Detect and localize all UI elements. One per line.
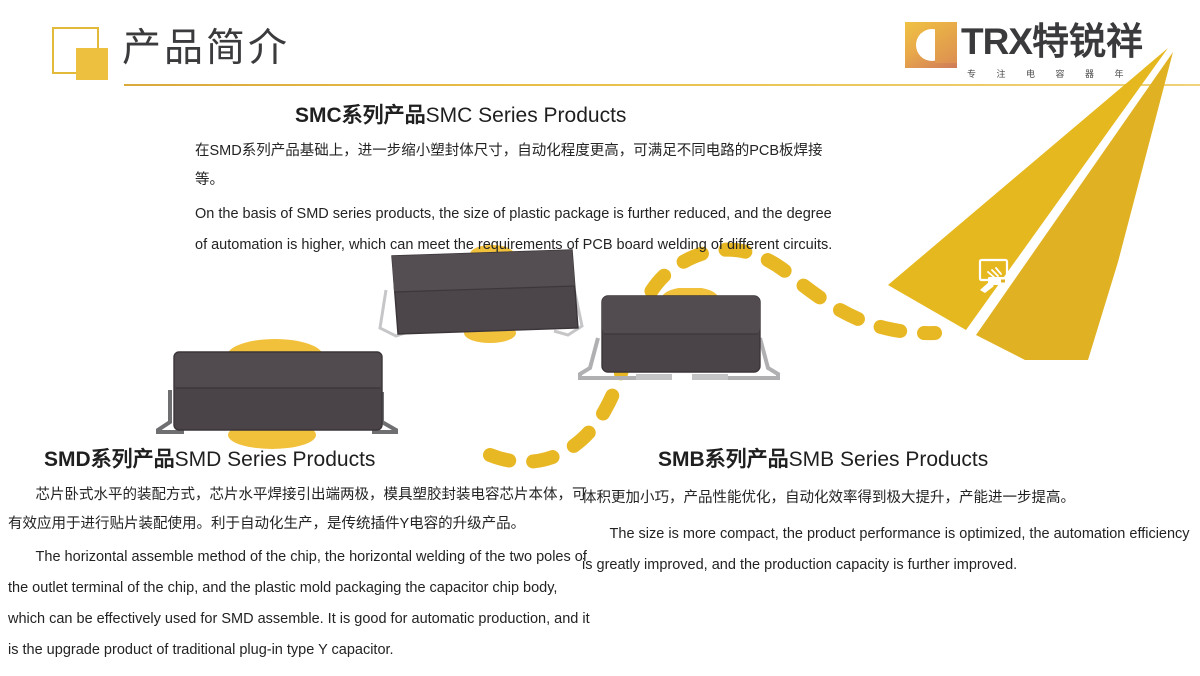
logo-wordmark-cn: 特锐祥 — [1032, 21, 1143, 62]
logo-wordmark: TRX特锐祥 — [961, 18, 1143, 66]
section-smd-heading-cn: SMD系列产品 — [44, 448, 175, 471]
section-smd: SMD系列产品SMD Series Products 芯片卧式水平的装配方式，芯… — [8, 447, 594, 666]
section-smc-paragraph-en: On the basis of SMD series products, the… — [195, 199, 845, 261]
section-smd-heading: SMD系列产品SMD Series Products — [8, 447, 594, 473]
section-smd-paragraph-cn-text: 芯片卧式水平的装配方式，芯片水平焊接引出端两极，模具塑胶封装电容芯片本体，可有效… — [8, 487, 587, 532]
page-title: 产品简介 — [122, 22, 290, 76]
section-smd-heading-en: SMD Series Products — [175, 448, 376, 471]
header-square-solid-icon — [76, 48, 108, 80]
header-divider — [124, 84, 1200, 86]
logo-tagline: 专 注 电 容 器 年 — [967, 68, 1133, 80]
logo-mark-bar — [935, 27, 957, 63]
section-smc-heading: SMC系列产品SMC Series Products — [195, 103, 845, 129]
section-smc-heading-en: SMC Series Products — [426, 104, 627, 127]
section-smd-paragraph-en-text: The horizontal assemble method of the ch… — [8, 549, 590, 658]
section-smc-heading-cn: SMC系列产品 — [295, 104, 426, 127]
section-smd-paragraph-cn: 芯片卧式水平的装配方式，芯片水平焊接引出端两极，模具塑胶封装电容芯片本体，可有效… — [8, 481, 594, 539]
section-smc-paragraph-cn: 在SMD系列产品基础上，进一步缩小塑封体尺寸，自动化程度更高，可满足不同电路的P… — [195, 137, 845, 195]
section-smb-paragraph-cn: 体积更加小巧，产品性能优化，自动化效率得到极大提升，产能进一步提高。 — [582, 484, 1200, 513]
section-smb: SMB系列产品SMB Series Products 体积更加小巧，产品性能优化… — [582, 447, 1200, 581]
trx-c-mark-icon — [905, 22, 957, 68]
section-smd-paragraph-en: The horizontal assemble method of the ch… — [8, 542, 594, 666]
brand-logo: TRX特锐祥 专 注 电 容 器 年 — [905, 20, 1165, 80]
section-smb-heading-cn: SMB系列产品 — [658, 448, 789, 471]
section-smb-paragraph-en: The size is more compact, the product pe… — [582, 519, 1200, 581]
section-smb-heading: SMB系列产品SMB Series Products — [582, 447, 1200, 473]
section-smb-paragraph-en-text: The size is more compact, the product pe… — [582, 526, 1190, 573]
logo-wordmark-en: TRX — [961, 21, 1032, 62]
slide-canvas: 产品简介 TRX特锐祥 专 注 电 容 器 年 — [0, 0, 1200, 676]
section-smb-heading-en: SMB Series Products — [789, 448, 989, 471]
section-smc: SMC系列产品SMC Series Products 在SMD系列产品基础上，进… — [195, 103, 845, 261]
smb-capacitor-component-image — [572, 288, 792, 388]
hand-card-swipe-icon — [976, 258, 1012, 294]
